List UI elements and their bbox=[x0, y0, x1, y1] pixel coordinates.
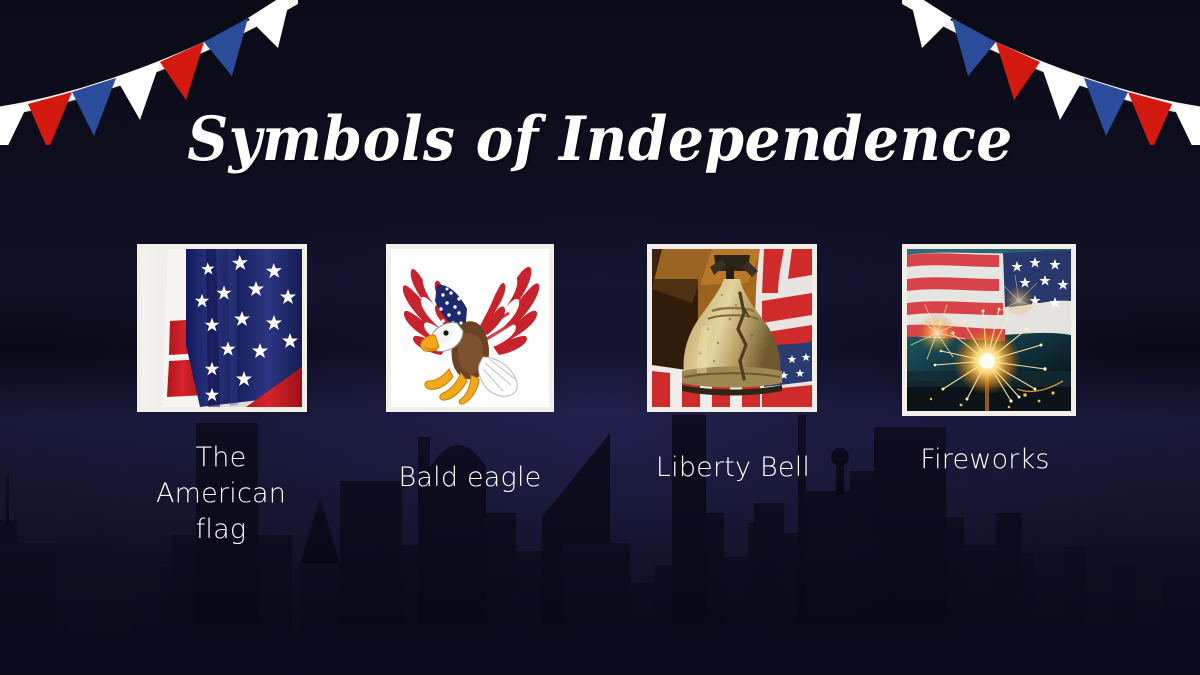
card-caption: Fireworks bbox=[890, 442, 1080, 478]
card-caption: The American flag bbox=[133, 440, 309, 548]
slide-canvas: Symbols of Independence bbox=[0, 0, 1200, 675]
fireworks-photo bbox=[907, 249, 1071, 411]
slide-title: Symbols of Independence bbox=[42, 108, 1158, 172]
liberty-bell-photo bbox=[652, 249, 812, 407]
card-caption: Liberty Bell bbox=[643, 450, 823, 486]
bald-eagle-frame bbox=[386, 244, 554, 412]
liberty-bell-frame bbox=[647, 244, 817, 412]
card-caption: Bald eagle bbox=[370, 460, 570, 496]
fireworks-frame bbox=[902, 244, 1076, 416]
symbol-card-liberty-bell[interactable]: Liberty Bell bbox=[647, 244, 817, 486]
symbols-card-row: The American flag bbox=[0, 244, 1200, 584]
american-flag-photo bbox=[142, 249, 302, 407]
symbol-card-fireworks[interactable]: Fireworks bbox=[902, 244, 1072, 478]
symbol-card-american-flag[interactable]: The American flag bbox=[137, 244, 307, 548]
bald-eagle-illustration bbox=[391, 249, 549, 407]
american-flag-frame bbox=[137, 244, 307, 412]
symbol-card-bald-eagle[interactable]: Bald eagle bbox=[386, 244, 556, 496]
